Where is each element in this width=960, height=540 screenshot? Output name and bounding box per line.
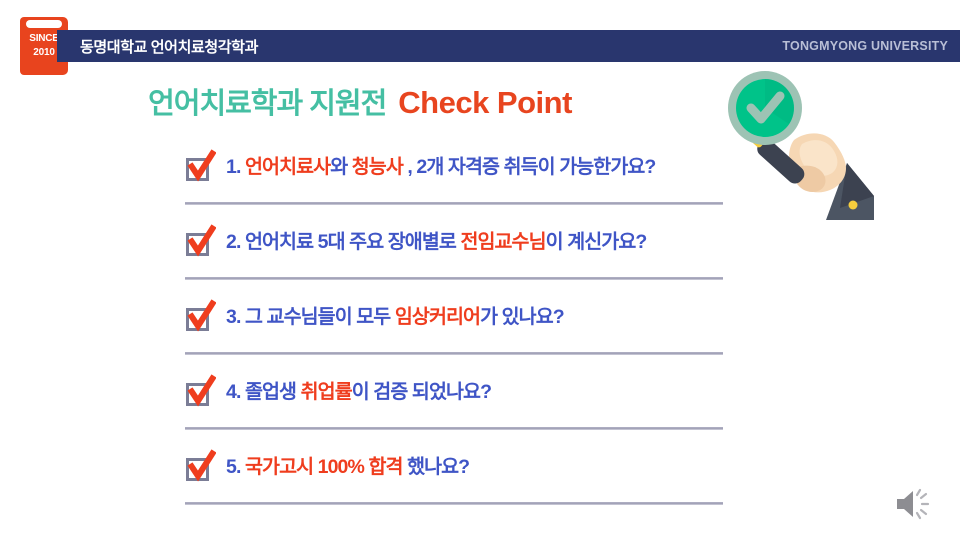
- checkmark-icon: [184, 224, 216, 258]
- checkmark-icon: [184, 299, 216, 333]
- sleeve-button: [849, 201, 858, 210]
- speaker-icon[interactable]: [893, 485, 935, 523]
- speaker-waves: [917, 490, 928, 518]
- checkbox-checked-icon[interactable]: [184, 154, 214, 184]
- header-bar: 동명대학교 언어치료청각학과 TONGMYONG UNIVERSITY: [57, 30, 960, 62]
- checkbox-checked-icon[interactable]: [184, 379, 214, 409]
- item-divider: [185, 277, 723, 280]
- list-item-text: 5. 국가고시 100% 합격 했나요?: [226, 456, 469, 479]
- department-title: 동명대학교 언어치료청각학과: [80, 36, 258, 57]
- list-item[interactable]: 1. 언어치료사와 청능사 , 2개 자격증 취득이 가능한가요?: [182, 140, 727, 215]
- item-divider: [185, 352, 723, 355]
- checkbox-checked-icon[interactable]: [184, 454, 214, 484]
- book-page-edge: [26, 20, 62, 28]
- list-item-text: 4. 졸업생 취업률이 검증 되었나요?: [226, 381, 491, 404]
- list-item[interactable]: 2. 언어치료 5대 주요 장애별로 전임교수님이 계신가요?: [182, 215, 727, 290]
- list-item-text: 3. 그 교수님들이 모두 임상커리어가 있나요?: [226, 306, 564, 329]
- list-item-text: 1. 언어치료사와 청능사 , 2개 자격증 취득이 가능한가요?: [226, 156, 655, 179]
- checkmark-icon: [184, 449, 216, 483]
- checkbox-checked-icon[interactable]: [184, 229, 214, 259]
- item-divider: [185, 502, 723, 505]
- item-divider: [185, 427, 723, 430]
- page-title-english: Check Point: [398, 85, 572, 120]
- item-divider: [185, 202, 723, 205]
- page-title: 언어치료학과 지원전Check Point: [0, 80, 720, 122]
- checkbox-checked-icon[interactable]: [184, 304, 214, 334]
- list-item-text: 2. 언어치료 5대 주요 장애별로 전임교수님이 계신가요?: [226, 231, 646, 254]
- checkmark-icon: [184, 374, 216, 408]
- magnifier-illustration-svg: [722, 68, 882, 220]
- university-name: TONGMYONG UNIVERSITY: [782, 39, 948, 53]
- page-title-korean: 언어치료학과 지원전: [148, 88, 386, 120]
- checklist: 1. 언어치료사와 청능사 , 2개 자격증 취득이 가능한가요? 2. 언어치…: [182, 140, 727, 515]
- list-item[interactable]: 3. 그 교수님들이 모두 임상커리어가 있나요?: [182, 290, 727, 365]
- list-item[interactable]: 5. 국가고시 100% 합격 했나요?: [182, 440, 727, 515]
- slide-canvas: SINCE 2010 동명대학교 언어치료청각학과 TONGMYONG UNIV…: [0, 0, 960, 540]
- speaker-body: [897, 491, 913, 517]
- checkmark-icon: [184, 149, 216, 183]
- speaker-icon-svg: [893, 485, 935, 523]
- magnifier-check-hand-icon: [722, 68, 882, 220]
- list-item[interactable]: 4. 졸업생 취업률이 검증 되었나요?: [182, 365, 727, 440]
